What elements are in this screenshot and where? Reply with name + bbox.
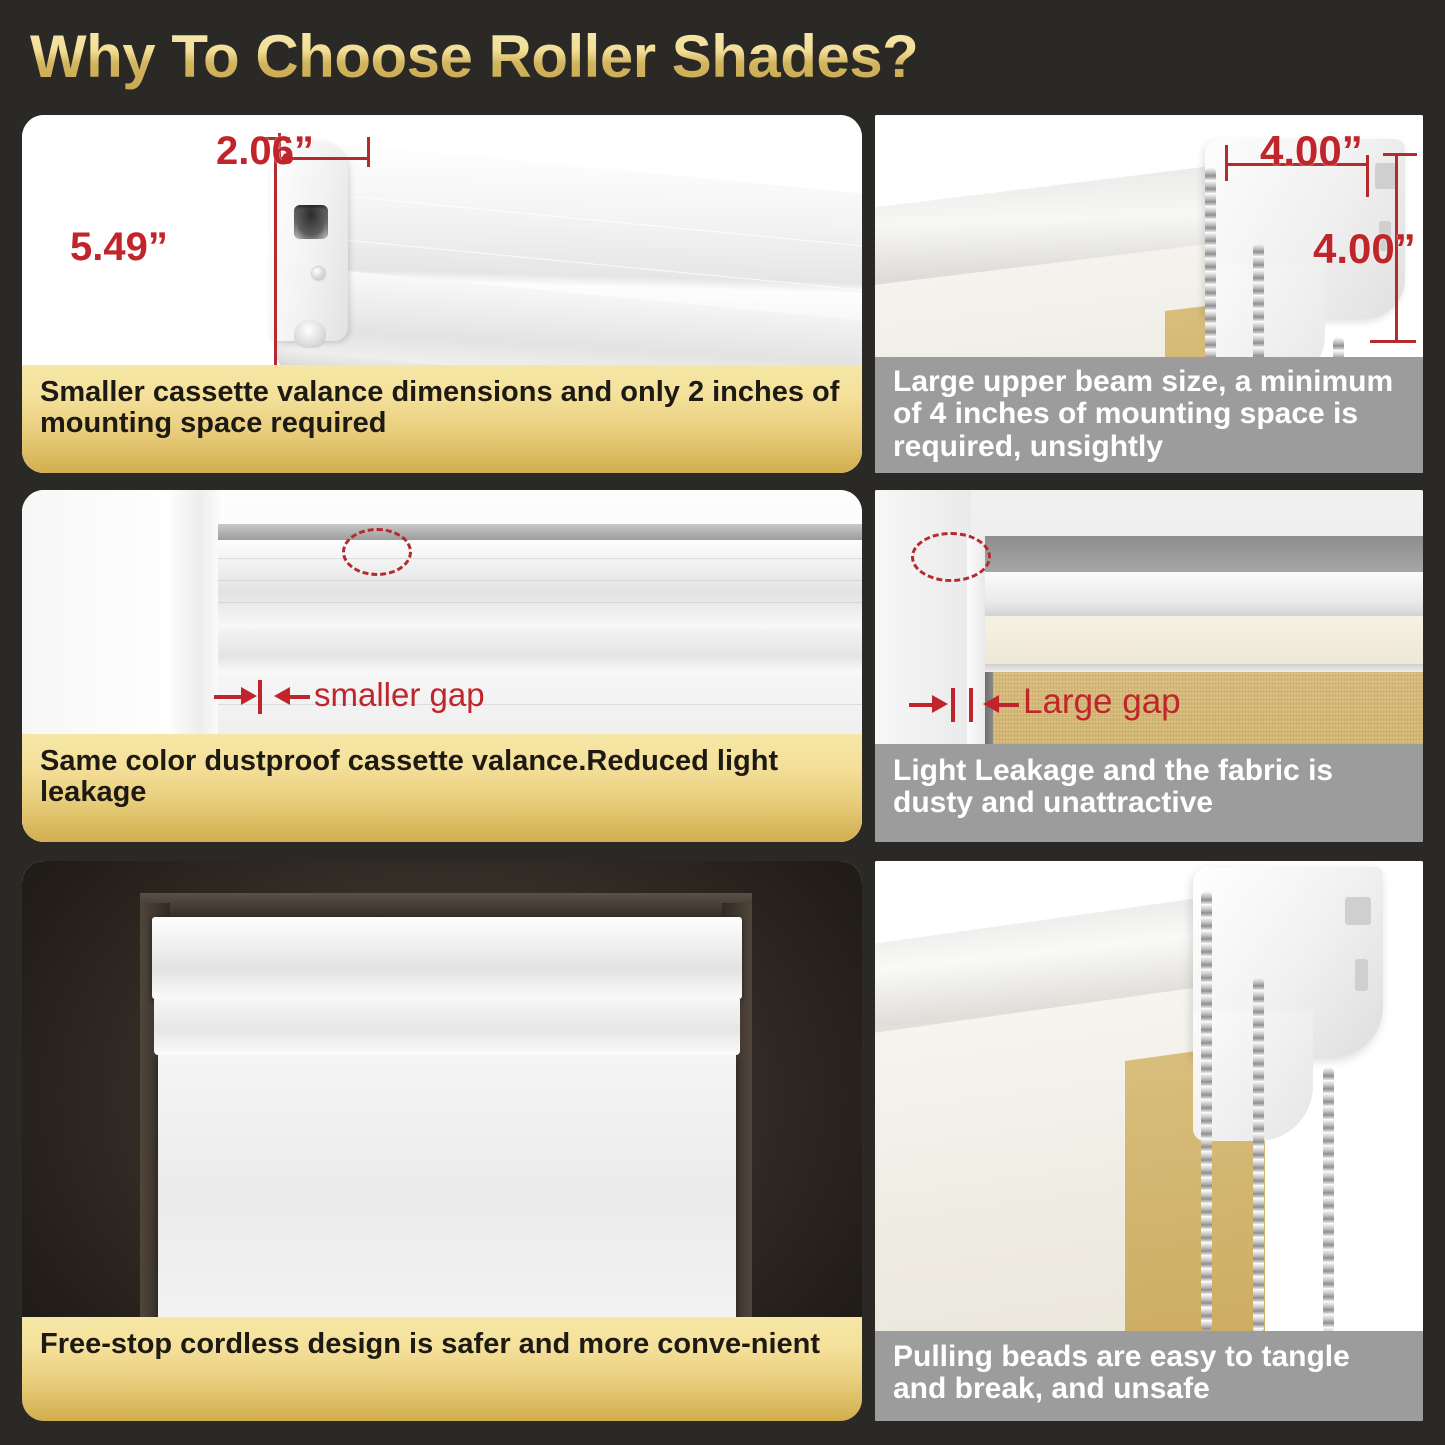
gap-callout-label: smaller gap [314,676,485,714]
panel-caption-disadvantage-1: Large upper beam size, a minimum of 4 in… [875,357,1423,473]
panel-caption-advantage-3: Free-stop cordless design is safer and m… [22,1317,862,1421]
screw-icon [312,267,325,280]
dimension-origin-dot [282,153,293,164]
panel-caption-advantage-2: Same color dustproof cassette valance.Re… [22,734,862,842]
dimension-label-beam-width: 4.00” [1260,127,1363,175]
panel-cordless-design: Free-stop cordless design is safer and m… [22,861,862,1421]
cassette-header-strip [218,524,862,540]
panel-caption-disadvantage-2: Light Leakage and the fabric is dusty an… [875,744,1423,842]
panel-pulling-beads: Pulling beads are easy to tangle and bre… [875,861,1423,1421]
highlight-circle-gap [911,532,991,582]
highlight-circle-gap [342,528,412,576]
upper-beam [985,572,1423,616]
gap-callout-label: Large gap [1023,682,1181,722]
panel-caption-advantage-1: Smaller cassette valance dimensions and … [22,365,862,473]
page-title: Why To Choose Roller Shades? [30,22,1030,91]
panel-smaller-gap: smaller gap Same color dustproof cassett… [22,490,862,842]
panel-caption-disadvantage-3: Pulling beads are easy to tangle and bre… [875,1331,1423,1421]
arrow-left-icon [274,687,290,705]
cassette-valance [218,540,862,628]
arrow-left-icon [983,695,999,713]
bracket-clip [294,320,326,348]
window-casing [172,490,224,760]
arrow-right-icon [241,687,257,705]
valance-lip [218,628,862,674]
panel-large-gap: Large gap Light Leakage and the fabric i… [875,490,1423,842]
arrow-right-icon [932,695,948,713]
dimension-label-beam-height: 4.00” [1313,225,1416,273]
beam-front-face [985,616,1423,664]
panel-large-beam: 4.00” 4.00” Large upper beam size, a min… [875,115,1423,473]
upper-beam-shadow [985,536,1423,572]
panel-cassette-dimensions: 2.06” 5.49” Smaller cassette valance dim… [22,115,862,473]
cassette-valance [152,917,742,999]
bead-chain-left [1201,891,1212,1331]
beam-edge [985,664,1423,672]
bead-chain-right [1323,1067,1334,1333]
dimension-label-height: 5.49” [70,225,168,270]
title-bar: Why To Choose Roller Shades? [30,22,1030,94]
valance-slot [294,205,328,239]
valance-lip [154,999,740,1055]
bead-chain-middle [1253,977,1264,1333]
gap-indicator-bar [258,680,262,714]
dimension-label-width: 2.06” [216,129,314,174]
